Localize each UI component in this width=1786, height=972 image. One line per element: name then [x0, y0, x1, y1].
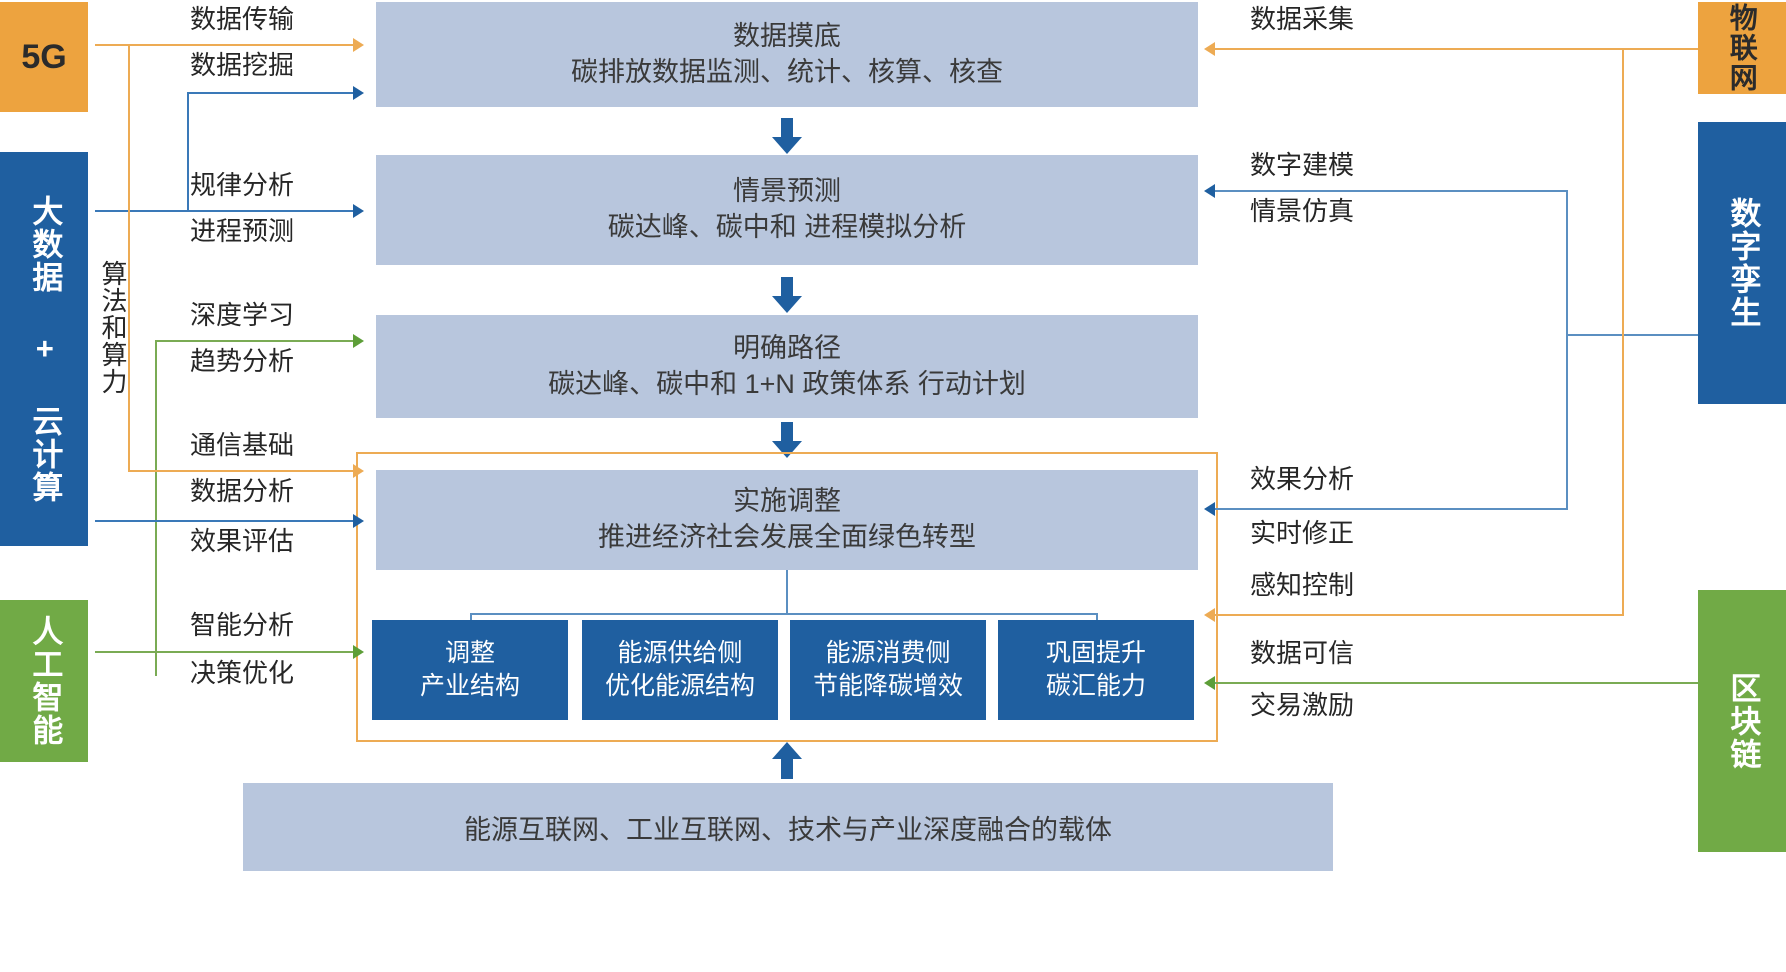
flow-label-data-collection: 数据采集	[1250, 6, 1354, 32]
pillar-branch-bus	[470, 613, 1098, 615]
left-axis-label: 算法和算力	[88, 260, 128, 395]
tech-chip-blockchain[interactable]: 区块链	[1698, 590, 1786, 852]
stage-box-2[interactable]: 情景预测 碳达峰、碳中和 进程模拟分析	[376, 155, 1198, 265]
flow-line-deep-learning	[155, 340, 353, 342]
stage-arrow-2-3	[772, 277, 802, 314]
tech-chip-ai-label: 人工智能	[27, 615, 62, 747]
flow-line-data-trusted	[1215, 682, 1698, 684]
flow-arrow-data-transmission	[353, 38, 364, 52]
tech-chip-iot[interactable]: 物联网	[1698, 2, 1786, 94]
flow-label-decision-optimization: 决策优化	[190, 660, 294, 686]
tech-chip-5g[interactable]: 5G	[0, 2, 88, 112]
flow-label-data-mining: 数据挖掘	[190, 52, 294, 78]
flow-line-perception-control	[1215, 614, 1624, 616]
pillar-industry-line2: 产业结构	[420, 670, 520, 704]
stage-box-4[interactable]: 实施调整 推进经济社会发展全面绿色转型	[376, 470, 1198, 570]
flow-label-data-transmission: 数据传输	[190, 6, 294, 32]
flow-line-intelligent-analysis	[95, 651, 353, 653]
flow-label-pattern-analysis: 规律分析	[190, 172, 294, 198]
flow-label-data-trusted: 数据可信	[1250, 640, 1354, 666]
pillar-carbon-sink[interactable]: 巩固提升 碳汇能力	[998, 620, 1194, 720]
pillar-energy-demand[interactable]: 能源消费侧 节能降碳增效	[790, 620, 986, 720]
tech-chip-5g-label: 5G	[21, 38, 66, 76]
flow-arrow-data-mining	[353, 86, 364, 100]
flow-label-process-forecast: 进程预测	[190, 218, 294, 244]
flow-label-data-analysis: 数据分析	[190, 478, 294, 504]
stage-1-title: 数据摸底	[733, 19, 841, 55]
stage-3-subtitle: 碳达峰、碳中和 1+N 政策体系 行动计划	[548, 367, 1026, 403]
flow-label-communication-base: 通信基础	[190, 432, 294, 458]
stage-4-subtitle: 推进经济社会发展全面绿色转型	[598, 520, 976, 556]
pillar-energy-demand-line1: 能源消费侧	[825, 637, 950, 671]
flow-arrow-communication-base	[353, 464, 364, 478]
stage-3-title: 明确路径	[733, 331, 841, 367]
flow-label-scenario-simulation: 情景仿真	[1250, 198, 1354, 224]
flow-label-trend-analysis: 趋势分析	[190, 348, 294, 374]
pillar-industry[interactable]: 调整 产业结构	[372, 620, 568, 720]
pillar-energy-demand-line2: 节能降碳增效	[813, 670, 963, 704]
stage-arrow-1-2	[772, 118, 802, 155]
pillar-energy-supply[interactable]: 能源供给侧 优化能源结构	[582, 620, 778, 720]
flow-line-data-transmission	[95, 44, 353, 46]
flow-line-effect-analysis	[1215, 508, 1568, 510]
flow-arrow-intelligent-analysis	[353, 645, 364, 659]
stage-2-title: 情景预测	[733, 174, 841, 210]
pillar-industry-line1: 调整	[445, 637, 495, 671]
tech-chip-digital-twin[interactable]: 数字孪生	[1698, 122, 1786, 404]
tech-chip-bigdata-cloud[interactable]: 大数据 + 云计算	[0, 152, 88, 546]
pillar-energy-supply-line1: 能源供给侧	[617, 637, 742, 671]
flow-arrow-effect-evaluation	[353, 514, 364, 528]
flow-line-data-collection	[1215, 48, 1698, 50]
flow-label-intelligent-analysis: 智能分析	[190, 612, 294, 638]
tech-chip-bigdata-cloud-label: 大数据 + 云计算	[27, 195, 62, 504]
pillar-branch-stem	[786, 570, 788, 614]
flow-line-communication-base	[128, 470, 353, 472]
stage-box-1[interactable]: 数据摸底 碳排放数据监测、统计、核算、核查	[376, 2, 1198, 107]
tech-chip-digital-twin-label: 数字孪生	[1725, 197, 1760, 329]
flow-arrow-data-collection	[1204, 42, 1215, 56]
flow-label-digital-modeling: 数字建模	[1250, 152, 1354, 178]
tech-chip-ai[interactable]: 人工智能	[0, 600, 88, 762]
flow-label-effect-analysis: 效果分析	[1250, 466, 1354, 492]
stage-2-subtitle: 碳达峰、碳中和 进程模拟分析	[608, 210, 967, 246]
flow-arrow-perception-control	[1204, 608, 1215, 622]
carrier-bar-label: 能源互联网、工业互联网、技术与产业深度融合的载体	[464, 808, 1112, 847]
flow-riser-perception-control	[1622, 48, 1624, 616]
flow-riser-communication-base	[128, 44, 130, 472]
carrier-arrow-up	[772, 742, 802, 779]
flow-label-perception-control: 感知控制	[1250, 572, 1354, 598]
flow-label-deep-learning: 深度学习	[190, 302, 294, 328]
carrier-bar[interactable]: 能源互联网、工业互联网、技术与产业深度融合的载体	[243, 783, 1333, 871]
flow-riser-effect-analysis	[1566, 334, 1568, 510]
pillar-energy-supply-line2: 优化能源结构	[605, 670, 755, 704]
flow-label-trade-incentive: 交易激励	[1250, 692, 1354, 718]
flow-line-data-mining	[187, 92, 353, 94]
flow-riser-deep-learning	[155, 340, 157, 676]
flow-label-realtime-correction: 实时修正	[1250, 520, 1354, 546]
tech-chip-iot-label: 物联网	[1726, 3, 1757, 93]
flow-line-pattern-analysis	[95, 210, 353, 212]
flow-line-digital-twin-tap	[1566, 334, 1698, 336]
flow-riser-digital-modeling	[1566, 190, 1568, 334]
stage-1-subtitle: 碳排放数据监测、统计、核算、核查	[571, 55, 1003, 91]
flow-riser-data-mining	[187, 92, 189, 211]
stage-4-title: 实施调整	[733, 484, 841, 520]
flow-line-digital-modeling	[1215, 190, 1568, 192]
diagram-canvas: 5G 大数据 + 云计算 人工智能 算法和算力 物联网 数字孪生 区块链 数据摸…	[0, 0, 1786, 972]
tech-chip-blockchain-label: 区块链	[1725, 672, 1760, 771]
flow-arrow-digital-modeling	[1204, 184, 1215, 198]
flow-arrow-deep-learning	[353, 334, 364, 348]
flow-label-effect-evaluation: 效果评估	[190, 528, 294, 554]
pillar-carbon-sink-line1: 巩固提升	[1046, 637, 1146, 671]
flow-arrow-data-trusted	[1204, 676, 1215, 690]
flow-arrow-effect-analysis	[1204, 502, 1215, 516]
flow-arrow-pattern-analysis	[353, 204, 364, 218]
pillar-carbon-sink-line2: 碳汇能力	[1046, 670, 1146, 704]
flow-line-effect-evaluation	[95, 520, 353, 522]
stage-box-3[interactable]: 明确路径 碳达峰、碳中和 1+N 政策体系 行动计划	[376, 315, 1198, 418]
